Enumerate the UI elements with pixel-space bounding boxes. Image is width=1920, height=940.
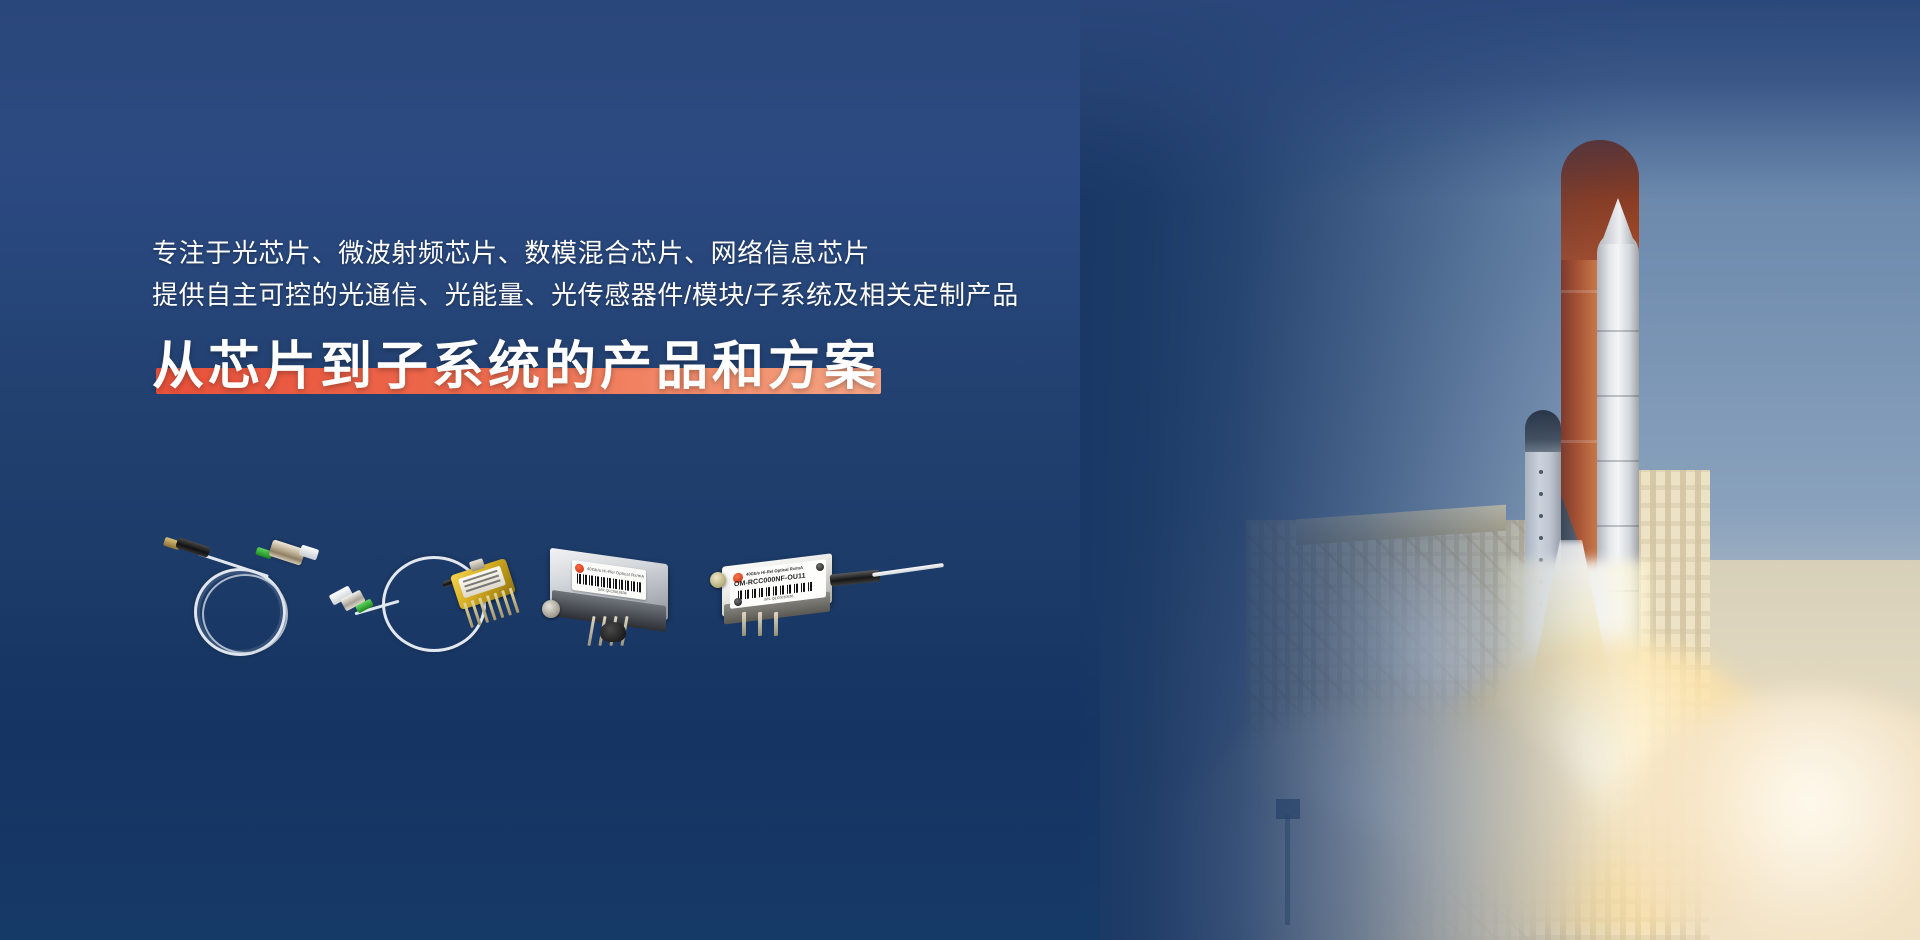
- sma-connector-icon: [542, 600, 560, 618]
- product-optical-receiver-module: 40Gb/s Hi-Rel Optical Rx/mA OM-RCC000NF-…: [712, 546, 942, 656]
- headline-wrapper: 从芯片到子系统的产品和方案: [152, 338, 880, 402]
- sma-connector-icon: [710, 572, 726, 588]
- white-fiber-icon: [872, 563, 944, 577]
- subtitle-line-1: 专注于光芯片、微波射频芯片、数模混合芯片、网络信息芯片: [152, 232, 1112, 274]
- product-image-row: 40Gb/s Hi-Rel Optical Rx/mA S/N: QLC0010…: [150, 540, 950, 670]
- black-boot-icon: [175, 537, 211, 558]
- product-rf-metal-module: 40Gb/s Hi-Rel Optical Rx/mA S/N: QLC0010…: [550, 548, 690, 658]
- hero-copy-block: 专注于光芯片、微波射频芯片、数模混合芯片、网络信息芯片 提供自主可控的光通信、光…: [152, 232, 1112, 402]
- subtitle-line-2: 提供自主可控的光通信、光能量、光传感器件/模块/子系统及相关定制产品: [152, 274, 1112, 316]
- page-title: 从芯片到子系统的产品和方案: [152, 338, 880, 396]
- hero-banner: 专注于光芯片、微波射频芯片、数模混合芯片、网络信息芯片 提供自主可控的光通信、光…: [0, 0, 1920, 940]
- product-butterfly-laser-package: [448, 560, 534, 638]
- brand-logo-icon: [575, 563, 584, 573]
- product-fiber-pigtail-coil: [160, 540, 320, 660]
- blue-overlay-top: [0, 0, 1920, 200]
